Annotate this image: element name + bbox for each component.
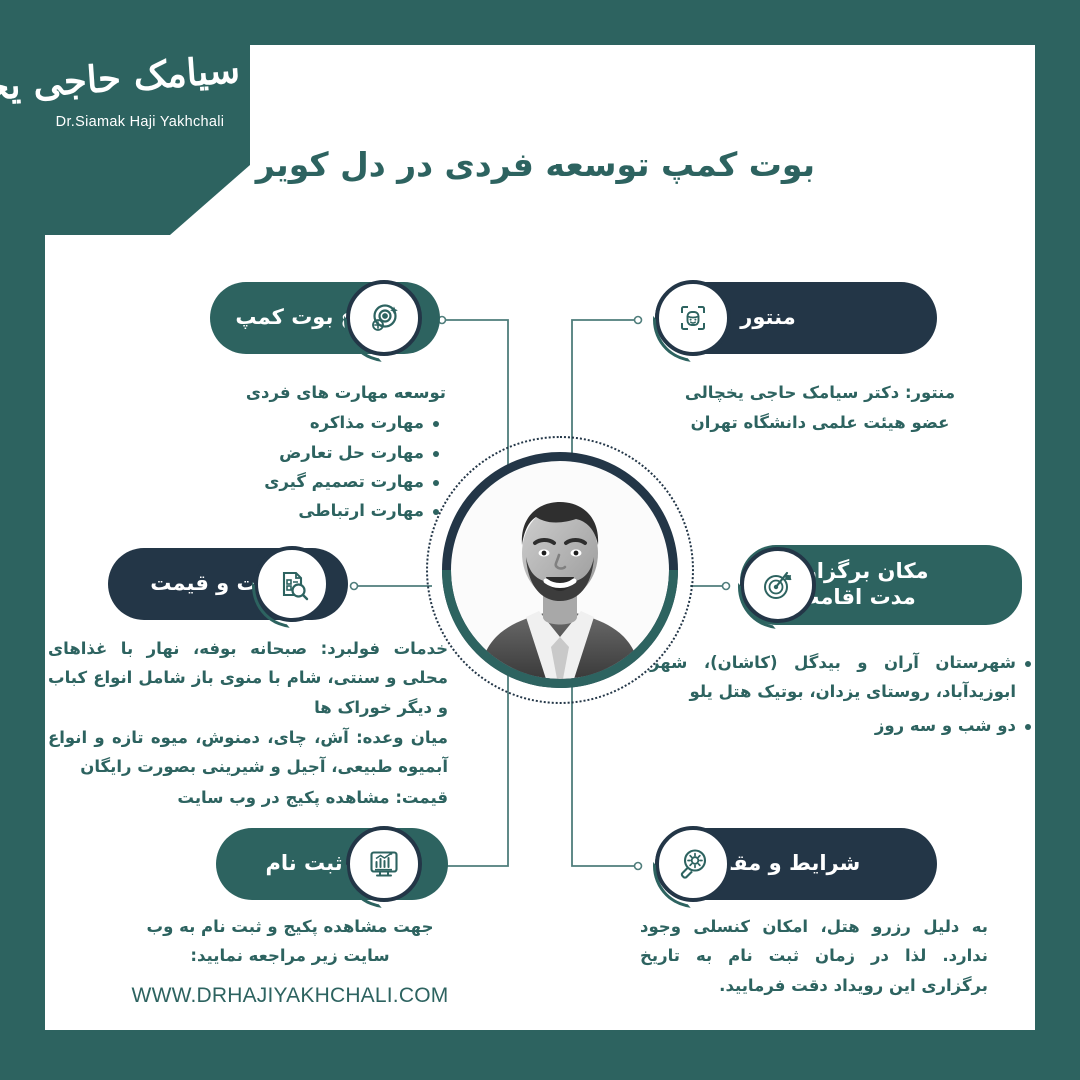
search-gear-icon bbox=[655, 826, 731, 902]
services-paragraph-2: میان وعده: آش، چای، دمنوش، میوه تازه و ا… bbox=[48, 723, 448, 782]
center-portrait bbox=[442, 452, 678, 688]
terms-body: به دلیل رزرو هتل، امکان کنسلی وجود ندارد… bbox=[640, 912, 988, 1001]
topic-body: توسعه مهارت های فردی مهارت مذاکره مهارت … bbox=[200, 378, 446, 526]
topic-bullets: مهارت مذاکره مهارت حل تعارض مهارت تصمیم … bbox=[200, 408, 446, 525]
mentor-line-2: عضو هیئت علمی دانشگاه تهران bbox=[660, 408, 980, 437]
node-terms: شرایط و مقررات bbox=[655, 828, 945, 900]
node-topic: موضوع بوت کمپ bbox=[150, 282, 440, 354]
target-camera-icon bbox=[346, 280, 422, 356]
brand-script-name: سیامک حاجی یخچالی bbox=[39, 48, 241, 104]
location-body: شهرستان آران و بیدگل (کاشان)، شهر ابوزید… bbox=[650, 648, 1038, 740]
brand-logo: سیامک حاجی یخچالی Dr.Siamak Haji Yakhcha… bbox=[40, 55, 240, 130]
mentor-line-1: منتور: دکتر سیامک حاجی یخچالی bbox=[660, 378, 980, 407]
list-item: مهارت مذاکره bbox=[200, 408, 424, 437]
list-item: مهارت حل تعارض bbox=[200, 438, 424, 467]
list-item: شهرستان آران و بیدگل (کاشان)، شهر ابوزید… bbox=[650, 648, 1016, 707]
target-flag-icon bbox=[740, 547, 816, 623]
node-mentor: منتور bbox=[655, 282, 945, 354]
checklist-search-icon bbox=[254, 546, 330, 622]
services-paragraph-3: قیمت: مشاهده پکیج در وب سایت bbox=[48, 783, 448, 812]
brand-latin-name: Dr.Siamak Haji Yakhchali bbox=[40, 114, 240, 130]
list-item: مهارت ارتباطی bbox=[200, 496, 424, 525]
page-title: بوت کمپ توسعه فردی در دل کویر bbox=[255, 143, 815, 188]
terms-text: به دلیل رزرو هتل، امکان کنسلی وجود ندارد… bbox=[640, 912, 988, 1000]
infographic-canvas: سیامک حاجی یخچالی Dr.Siamak Haji Yakhcha… bbox=[0, 0, 1080, 1080]
node-location: مکان برگزاری مدت اقامت bbox=[740, 545, 1030, 625]
website-url[interactable]: WWW.DRHAJIYAKHCHALI.COM bbox=[130, 977, 450, 1014]
registration-text: جهت مشاهده پکیج و ثبت نام به وب سایت زیر… bbox=[130, 912, 450, 971]
location-bullets: شهرستان آران و بیدگل (کاشان)، شهر ابوزید… bbox=[650, 648, 1038, 740]
mentor-body: منتور: دکتر سیامک حاجی یخچالی عضو هیئت ع… bbox=[660, 378, 980, 439]
list-item: دو شب و سه روز bbox=[650, 711, 1016, 740]
services-body: خدمات فولبرد: صبحانه بوفه، نهار با غذاها… bbox=[48, 634, 448, 813]
list-item: مهارت تصمیم گیری bbox=[200, 467, 424, 496]
topic-lead: توسعه مهارت های فردی bbox=[200, 378, 446, 407]
node-services: خدمات و قیمت bbox=[48, 548, 348, 620]
registration-body: جهت مشاهده پکیج و ثبت نام به وب سایت زیر… bbox=[130, 912, 450, 1014]
services-paragraph-1: خدمات فولبرد: صبحانه بوفه، نهار با غذاها… bbox=[48, 634, 448, 722]
node-registration: نحوه ثبت نام bbox=[148, 828, 448, 900]
face-scan-icon bbox=[655, 280, 731, 356]
monitor-chart-icon bbox=[346, 826, 422, 902]
